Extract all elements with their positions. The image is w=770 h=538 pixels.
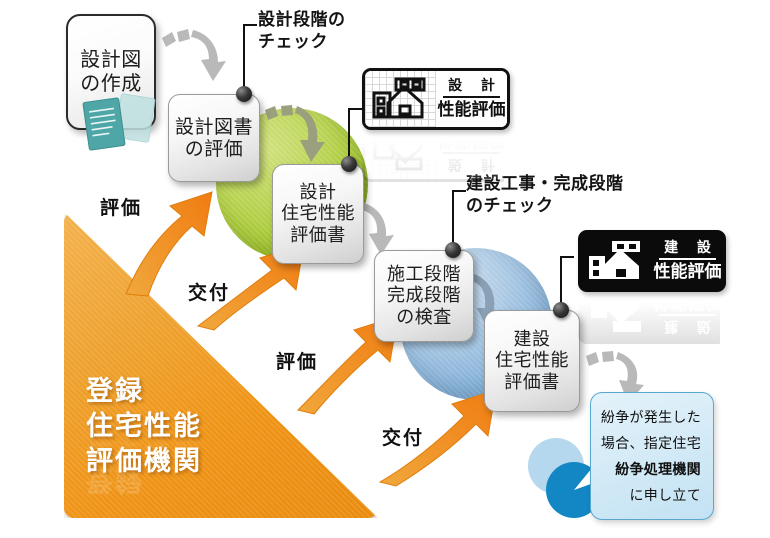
house-grid-icon [365,71,436,127]
construction-mark-text: 建 設 性能評価 [652,233,723,289]
leader-line-design-mark-top [348,108,362,110]
stage-word-evaluation-2: 評価 [276,347,318,374]
knob-construction-inspection [445,242,461,258]
leader-line-construction-check-top [452,190,466,192]
leader-line-construction-check [452,190,454,244]
org-label: 登録 住宅性能 評価機関 [86,374,202,479]
node-label: 施工段階 完成段階 の検査 [387,264,461,328]
callout-design-stage-check: 設計段階の チェック [258,10,346,54]
motion-arrow-1 [160,26,230,96]
diagram-canvas: 登録 住宅性能 評価機関 登録 住宅性能 評価機関 [0,0,770,538]
knob-construction-certificate [553,302,569,318]
leader-line-design-stage-check [243,24,245,92]
node-label: 設計図書 の評価 [175,116,253,161]
callout-construction-completion-check: 建設工事・完成段階 のチェック [466,174,624,218]
node-construction-housing-performance-certificate[interactable]: 建設 住宅性能 評価書 [484,310,580,412]
stage-word-issue-2: 交付 [382,423,424,450]
leader-line-construction-mark [560,256,562,304]
construction-mark-divider [659,258,716,260]
knob-design-document-evaluation [236,86,252,102]
stage-word-evaluation-1: 評価 [100,193,142,220]
house-grid-icon [365,123,436,179]
note-line-3: 紛争処理機関 [615,459,701,479]
note-line-2: 場合、指定住宅 [601,433,701,453]
design-mark-top-text: 設 計 [441,79,502,93]
design-mark-bottom-text: 性能評価 [438,102,506,119]
node-design-housing-performance-certificate[interactable]: 設計 住宅性能 評価書 [272,164,364,264]
dispute-resolution-note[interactable]: 紛争が発生した 場合、指定住宅 紛争処理機関 に申し立て [590,392,714,520]
knob-design-certificate [341,156,357,172]
leader-line-design-stage-check-top [243,24,257,26]
node-label: 設計 住宅性能 評価書 [281,182,355,246]
design-mark-divider [443,96,500,98]
node-label: 建設 住宅性能 評価書 [495,329,569,393]
design-performance-mark: 設 計 性能評価 [362,68,510,130]
node-construction-completion-inspection[interactable]: 施工段階 完成段階 の検査 [374,250,474,342]
leader-line-construction-mark-top [560,256,574,258]
note-line-1: 紛争が発生した [601,407,701,427]
blueprint-papers-icon [78,92,164,158]
construction-mark-top-text: 建 設 [657,241,718,255]
leader-line-design-mark [348,108,350,158]
construction-mark-bottom-text: 性能評価 [654,264,722,281]
stage-word-issue-1: 交付 [188,278,230,305]
design-mark-text: 設 計 性能評価 [436,71,507,127]
construction-performance-mark-reflection: 建 設性能評価 [578,288,720,344]
note-line-4: に申し立て [630,485,702,505]
node-design-document-evaluation[interactable]: 設計図書 の評価 [168,94,260,182]
house-solid-icon [581,233,652,289]
construction-performance-mark: 建 設 性能評価 [578,230,726,292]
node-label: 設計図 の作成 [80,48,142,95]
